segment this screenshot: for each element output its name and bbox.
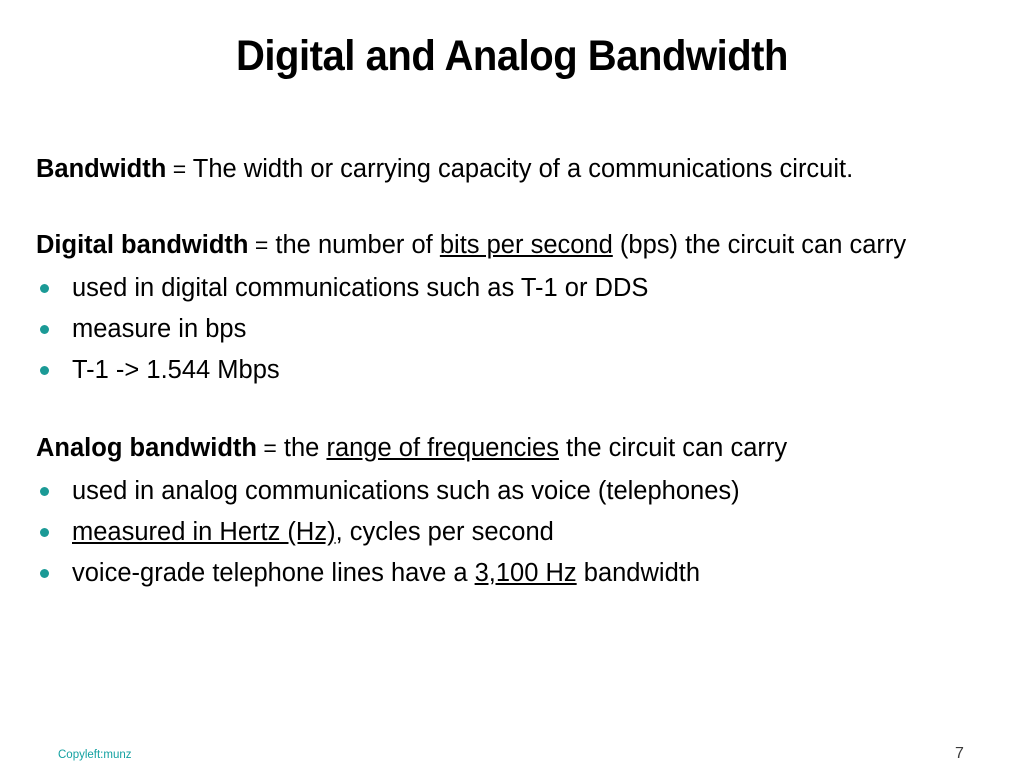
digital-bandwidth-paragraph: Digital bandwidth = the number of bits p… bbox=[36, 226, 986, 264]
list-item-underlined: measured in Hertz (Hz) bbox=[72, 518, 336, 546]
footer-credit: Copyleft:munz bbox=[58, 748, 132, 762]
digital-equals: = bbox=[255, 232, 268, 258]
analog-term: Analog bandwidth bbox=[36, 434, 257, 462]
bullet-dot-icon bbox=[40, 487, 49, 496]
analog-text-after: the circuit can carry bbox=[566, 434, 787, 462]
slide-body: Bandwidth = The width or carrying capaci… bbox=[36, 150, 986, 594]
analog-bandwidth-paragraph: Analog bandwidth = the range of frequenc… bbox=[36, 429, 986, 467]
definition-equals: = bbox=[173, 156, 186, 182]
definition-term: Bandwidth bbox=[36, 155, 166, 183]
list-item-label: measure in bps bbox=[72, 315, 246, 343]
digital-text-before: the number of bbox=[275, 231, 432, 259]
list-item-label: used in digital communications such as T… bbox=[72, 274, 648, 302]
page-title: Digital and Analog Bandwidth bbox=[36, 32, 988, 81]
spacer-after-definition bbox=[36, 188, 986, 226]
list-item: T-1 -> 1.544 Mbps bbox=[36, 350, 986, 391]
analog-equals: = bbox=[263, 435, 276, 461]
bullet-dot-icon bbox=[40, 569, 49, 578]
list-item: voice-grade telephone lines have a 3,100… bbox=[36, 553, 986, 594]
bullet-dot-icon bbox=[40, 528, 49, 537]
list-item-text-after: bandwidth bbox=[577, 559, 700, 587]
list-item-text-after: , cycles per second bbox=[336, 518, 554, 546]
definition-paragraph: Bandwidth = The width or carrying capaci… bbox=[36, 150, 986, 188]
list-item: measure in bps bbox=[36, 309, 986, 350]
list-item: used in analog communications such as vo… bbox=[36, 471, 986, 512]
definition-text: The width or carrying capacity of a comm… bbox=[193, 155, 853, 183]
spacer-before-analog bbox=[36, 391, 986, 429]
list-item: used in digital communications such as T… bbox=[36, 268, 986, 309]
list-item-label: T-1 -> 1.544 Mbps bbox=[72, 356, 280, 384]
list-item: measured in Hertz (Hz), cycles per secon… bbox=[36, 512, 986, 553]
bullet-dot-icon bbox=[40, 325, 49, 334]
page-number: 7 bbox=[955, 745, 995, 763]
slide-canvas: Digital and Analog Bandwidth Bandwidth =… bbox=[0, 0, 1024, 768]
list-item-text-before: used in analog communications such as vo… bbox=[72, 477, 740, 505]
bullet-dot-icon bbox=[40, 366, 49, 375]
digital-text-after: (bps) the circuit can carry bbox=[620, 231, 906, 259]
digital-term: Digital bandwidth bbox=[36, 231, 248, 259]
analog-text-before: the bbox=[284, 434, 319, 462]
analog-underlined-term: range of frequencies bbox=[326, 434, 559, 462]
list-item-underlined: 3,100 Hz bbox=[475, 559, 577, 587]
digital-underlined-term: bits per second bbox=[440, 231, 613, 259]
bullet-dot-icon bbox=[40, 284, 49, 293]
list-item-text-before: voice-grade telephone lines have a bbox=[72, 559, 475, 587]
